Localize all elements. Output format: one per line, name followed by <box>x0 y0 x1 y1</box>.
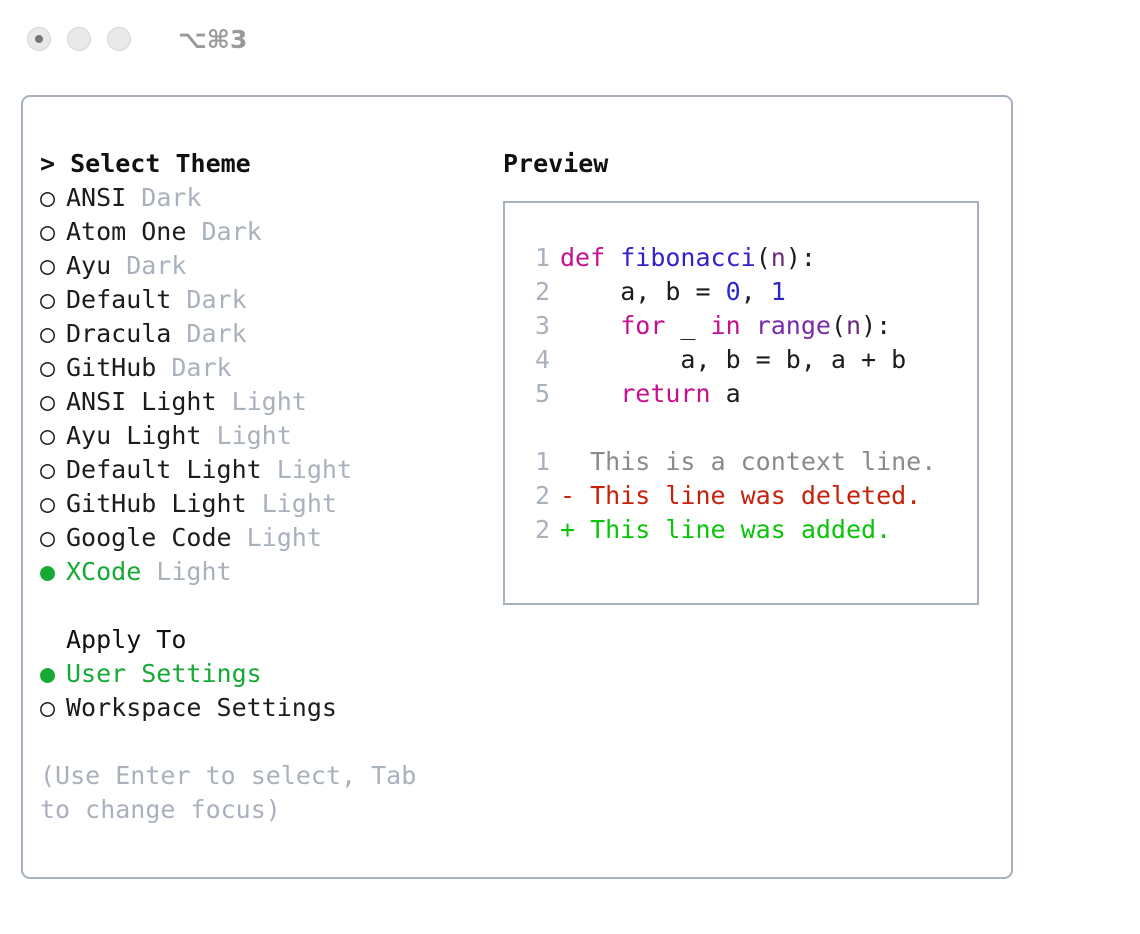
code-token <box>560 311 620 340</box>
theme-name: Default <box>66 285 171 314</box>
code-line-number: 3 <box>523 309 550 343</box>
diff-sample: 1 This is a context line.2- This line wa… <box>523 445 977 547</box>
radio-unselected-icon[interactable]: ○ <box>40 521 66 555</box>
theme-selection-column: > Select Theme ○ANSI Dark○Atom One Dark○… <box>23 97 493 877</box>
code-token: for <box>620 311 665 340</box>
theme-name: Dracula <box>66 319 171 348</box>
code-token: n <box>771 243 786 272</box>
diff-line-number: 2 <box>523 479 550 513</box>
diff-line-number: 1 <box>523 445 550 479</box>
theme-row-space <box>141 557 156 586</box>
code-token: ( <box>831 311 846 340</box>
theme-kind-label: Light <box>262 489 337 518</box>
code-token: def <box>560 243 620 272</box>
code-token: ): <box>786 243 816 272</box>
radio-unselected-icon[interactable]: ○ <box>40 317 66 351</box>
theme-name: ANSI <box>66 183 126 212</box>
code-token: a <box>711 379 741 408</box>
theme-row-space <box>171 285 186 314</box>
apply-to-list: ●User Settings○Workspace Settings <box>40 657 493 725</box>
theme-row-space <box>186 217 201 246</box>
theme-list-item[interactable]: ○ANSI Dark <box>40 181 493 215</box>
theme-list-item[interactable]: ○Atom One Dark <box>40 215 493 249</box>
theme-row-space <box>232 523 247 552</box>
code-token: a, b = <box>560 277 726 306</box>
theme-list-item[interactable]: ○GitHub Dark <box>40 351 493 385</box>
window-dot-active-inner <box>35 35 43 43</box>
theme-row-space <box>111 251 126 280</box>
hint-spacer <box>40 725 493 759</box>
theme-row-space <box>171 319 186 348</box>
preview-column: Preview 1def fibonacci(n):2 a, b = 0, 13… <box>493 97 1011 877</box>
window-controls <box>27 27 131 51</box>
code-line-number: 5 <box>523 377 550 411</box>
theme-kind-label: Dark <box>171 353 231 382</box>
theme-picker-panel: > Select Theme ○ANSI Dark○Atom One Dark○… <box>21 95 1013 879</box>
theme-kind-label: Light <box>247 523 322 552</box>
code-token: return <box>620 379 710 408</box>
theme-list-item[interactable]: ○Ayu Dark <box>40 249 493 283</box>
code-token: ( <box>756 243 771 272</box>
theme-row-space <box>217 387 232 416</box>
window-titlebar: ⌥⌘3 <box>0 0 1140 78</box>
theme-list-item[interactable]: ○Google Code Light <box>40 521 493 555</box>
code-token <box>560 379 620 408</box>
code-line-number: 1 <box>523 241 550 275</box>
radio-unselected-icon[interactable]: ○ <box>40 249 66 283</box>
code-token: n <box>846 311 861 340</box>
theme-name: Ayu Light <box>66 421 201 450</box>
code-token: 1 <box>771 277 786 306</box>
keyboard-shortcut-label: ⌥⌘3 <box>178 25 247 54</box>
theme-list-item[interactable]: ○ANSI Light Light <box>40 385 493 419</box>
code-token: 0 <box>726 277 741 306</box>
code-token: _ <box>665 311 710 340</box>
window-dot-second[interactable] <box>67 27 91 51</box>
theme-list-item[interactable]: ○GitHub Light Light <box>40 487 493 521</box>
theme-name: Atom One <box>66 217 186 246</box>
radio-unselected-icon[interactable]: ○ <box>40 181 66 215</box>
select-theme-header: > Select Theme <box>40 147 493 181</box>
theme-kind-label: Light <box>217 421 292 450</box>
theme-kind-label: Dark <box>186 285 246 314</box>
diff-line: 2+ This line was added. <box>523 513 977 547</box>
theme-name: ANSI Light <box>66 387 217 416</box>
theme-kind-label: Light <box>156 557 231 586</box>
diff-line-number: 2 <box>523 513 550 547</box>
theme-list-item[interactable]: ○Ayu Light Light <box>40 419 493 453</box>
theme-name: Ayu <box>66 251 111 280</box>
radio-unselected-icon[interactable]: ○ <box>40 453 66 487</box>
radio-unselected-icon[interactable]: ○ <box>40 385 66 419</box>
radio-selected-icon[interactable]: ● <box>40 657 66 691</box>
window-dot-third[interactable] <box>107 27 131 51</box>
code-line: 2 a, b = 0, 1 <box>523 275 977 309</box>
theme-row-space <box>262 455 277 484</box>
code-line: 3 for _ in range(n): <box>523 309 977 343</box>
radio-unselected-icon[interactable]: ○ <box>40 215 66 249</box>
code-sample: 1def fibonacci(n):2 a, b = 0, 13 for _ i… <box>523 241 977 411</box>
apply-to-option[interactable]: ●User Settings <box>40 657 493 691</box>
theme-row-space <box>126 183 141 212</box>
theme-kind-label: Dark <box>186 319 246 348</box>
code-token: fibonacci <box>620 243 755 272</box>
code-token <box>741 311 756 340</box>
code-line: 5 return a <box>523 377 977 411</box>
theme-list: ○ANSI Dark○Atom One Dark○Ayu Dark○Defaul… <box>40 181 493 589</box>
radio-selected-icon[interactable]: ● <box>40 555 66 589</box>
apply-to-option[interactable]: ○Workspace Settings <box>40 691 493 725</box>
theme-list-item[interactable]: ○Default Light Light <box>40 453 493 487</box>
theme-list-item[interactable]: ●XCode Light <box>40 555 493 589</box>
code-token: a, b = b, a + b <box>560 345 906 374</box>
theme-name: Google Code <box>66 523 232 552</box>
radio-unselected-icon[interactable]: ○ <box>40 283 66 317</box>
theme-row-space <box>201 421 216 450</box>
theme-kind-label: Dark <box>126 251 186 280</box>
theme-kind-label: Dark <box>201 217 261 246</box>
preview-box: 1def fibonacci(n):2 a, b = 0, 13 for _ i… <box>503 201 979 605</box>
theme-name: Default Light <box>66 455 262 484</box>
radio-unselected-icon[interactable]: ○ <box>40 419 66 453</box>
apply-to-header: Apply To <box>40 623 493 657</box>
preview-header: Preview <box>503 147 1011 181</box>
theme-kind-label: Light <box>232 387 307 416</box>
code-line-number: 2 <box>523 275 550 309</box>
diff-line-text: + This line was added. <box>560 515 891 544</box>
radio-unselected-icon[interactable]: ○ <box>40 351 66 385</box>
code-diff-gap <box>523 411 977 445</box>
theme-name: GitHub <box>66 353 156 382</box>
code-line: 4 a, b = b, a + b <box>523 343 977 377</box>
code-token: ): <box>861 311 891 340</box>
theme-kind-label: Light <box>277 455 352 484</box>
code-line: 1def fibonacci(n): <box>523 241 977 275</box>
theme-row-space <box>247 489 262 518</box>
code-token: in <box>711 311 741 340</box>
window-dot-active[interactable] <box>27 27 51 51</box>
list-spacer <box>40 589 493 623</box>
theme-list-item[interactable]: ○Dracula Dark <box>40 317 493 351</box>
theme-name: GitHub Light <box>66 489 247 518</box>
apply-to-option-label: User Settings <box>66 659 262 688</box>
diff-line-text: - This line was deleted. <box>560 481 921 510</box>
radio-unselected-icon[interactable]: ○ <box>40 691 66 725</box>
theme-list-item[interactable]: ○Default Dark <box>40 283 493 317</box>
apply-to-option-label: Workspace Settings <box>66 693 337 722</box>
theme-kind-label: Dark <box>141 183 201 212</box>
theme-row-space <box>156 353 171 382</box>
keyboard-hint-text: (Use Enter to select, Tab to change focu… <box>40 759 450 827</box>
diff-line: 1 This is a context line. <box>523 445 977 479</box>
diff-line: 2- This line was deleted. <box>523 479 977 513</box>
code-token: , <box>741 277 771 306</box>
theme-name: XCode <box>66 557 141 586</box>
radio-unselected-icon[interactable]: ○ <box>40 487 66 521</box>
code-token: range <box>756 311 831 340</box>
diff-line-text: This is a context line. <box>560 447 936 476</box>
code-line-number: 4 <box>523 343 550 377</box>
